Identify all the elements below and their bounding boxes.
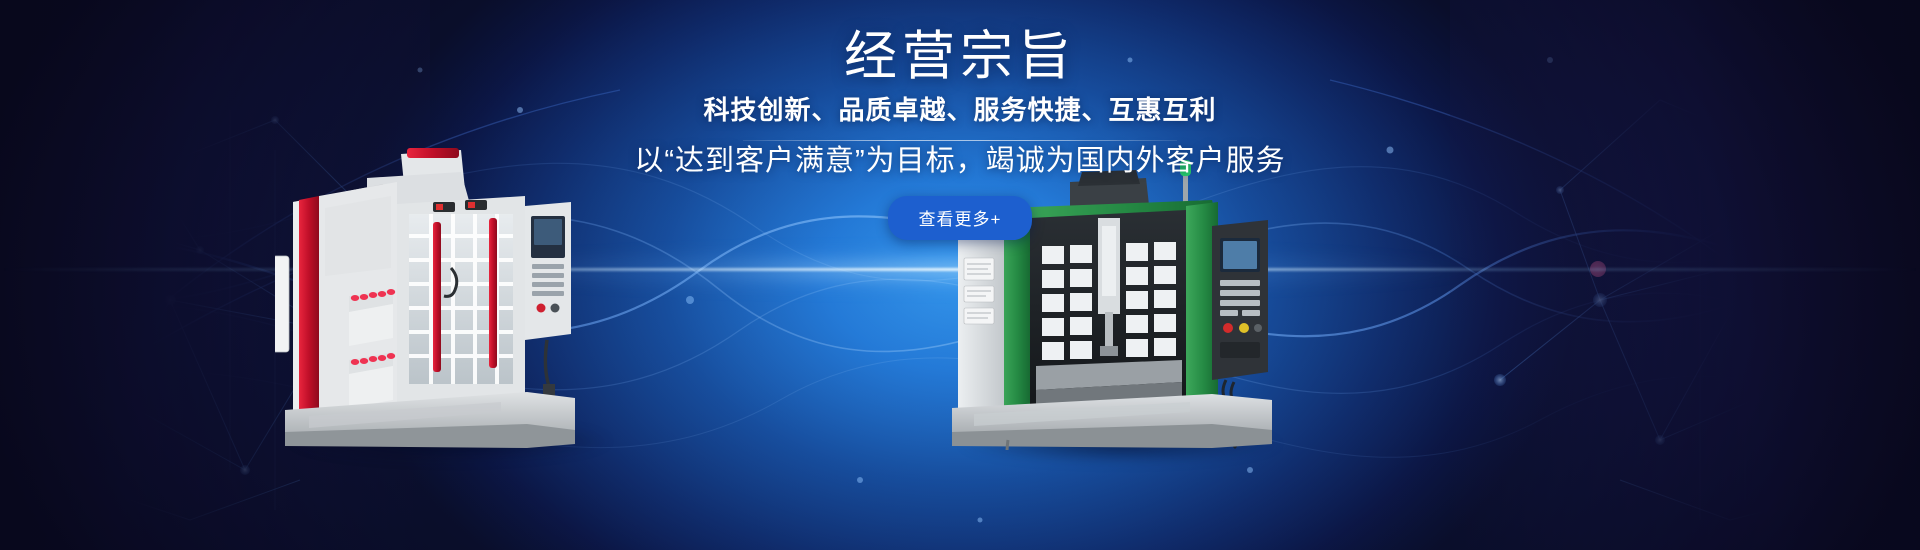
promo-banner: 经营宗旨 科技创新、品质卓越、服务快捷、互惠互利 以“达到客户满意”为目标，竭诚… [0, 0, 1920, 550]
cta-container: 查看更多+ [0, 196, 1920, 240]
banner-title: 经营宗旨 [0, 30, 1920, 83]
banner-content: 经营宗旨 科技创新、品质卓越、服务快捷、互惠互利 以“达到客户满意”为目标，竭诚… [0, 0, 1920, 550]
divider-line [743, 140, 1177, 141]
view-more-button[interactable]: 查看更多+ [888, 196, 1033, 240]
banner-subtitle: 科技创新、品质卓越、服务快捷、互惠互利 [0, 94, 1920, 127]
banner-tagline: 以“达到客户满意”为目标，竭诚为国内外客户服务 [0, 143, 1920, 181]
